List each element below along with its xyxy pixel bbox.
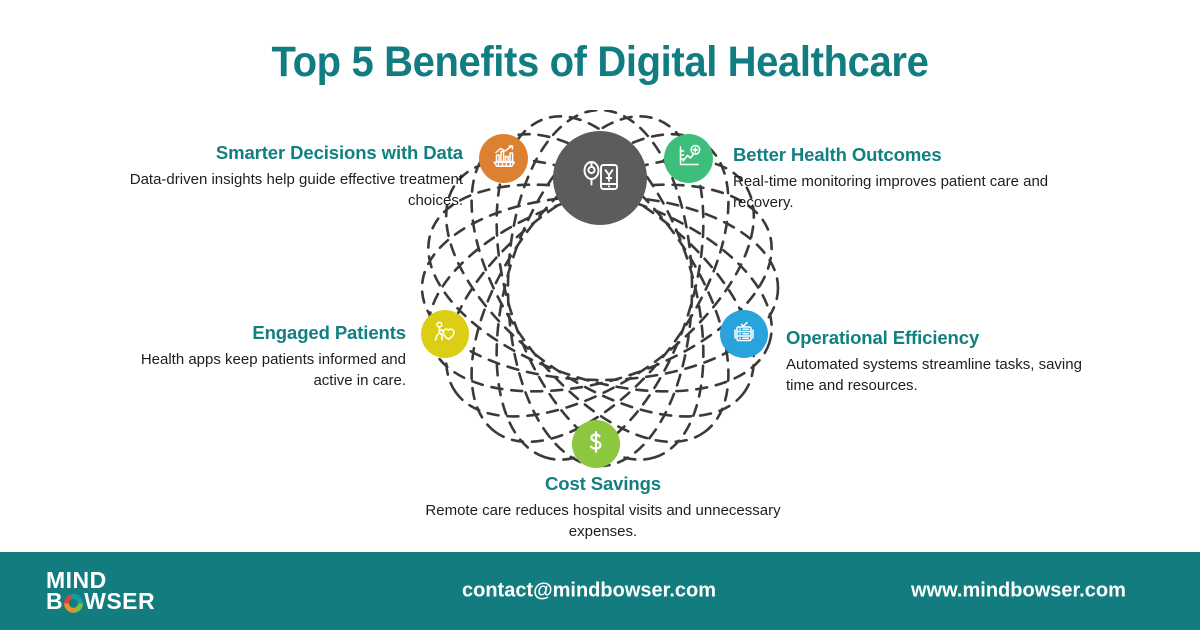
logo-text-b: B xyxy=(46,591,63,612)
benefit-block-smarter-decisions: Smarter Decisions with Data Data-driven … xyxy=(120,142,463,211)
mindbowser-swirl-icon xyxy=(64,594,83,613)
benefit-description: Real-time monitoring improves patient ca… xyxy=(733,172,1063,213)
benefit-description: Data-driven insights help guide effectiv… xyxy=(120,170,463,211)
benefit-block-engaged-patients: Engaged Patients Health apps keep patien… xyxy=(100,322,406,391)
benefit-description: Remote care reduces hospital visits and … xyxy=(420,501,786,542)
benefit-heading: Better Health Outcomes xyxy=(733,144,1063,166)
benefit-description: Health apps keep patients informed and a… xyxy=(100,350,406,391)
benefit-heading: Operational Efficiency xyxy=(786,327,1086,349)
node-engaged-patients[interactable] xyxy=(421,310,469,358)
benefit-heading: Cost Savings xyxy=(420,473,786,495)
stethoscope-smartphone-icon xyxy=(576,152,624,205)
person-heart-icon xyxy=(431,318,459,351)
logo-text-wser: WSER xyxy=(84,591,155,612)
benefit-block-operational-efficiency: Operational Efficiency Automated systems… xyxy=(786,327,1086,396)
server-checklist-icon xyxy=(730,318,758,351)
node-cost-savings[interactable] xyxy=(572,420,620,468)
node-smarter-decisions[interactable] xyxy=(479,134,528,183)
benefit-block-cost-savings: Cost Savings Remote care reduces hospita… xyxy=(420,473,786,542)
bar-chart-growth-icon xyxy=(490,142,518,175)
center-hub xyxy=(553,131,647,225)
benefit-block-better-health-outcomes: Better Health Outcomes Real-time monitor… xyxy=(733,144,1063,213)
benefit-heading: Engaged Patients xyxy=(100,322,406,344)
medical-chart-icon xyxy=(675,142,703,175)
benefit-description: Automated systems streamline tasks, savi… xyxy=(786,355,1086,396)
footer-bar: MIND B WSER contact@mindbowser.com www.m… xyxy=(0,552,1200,630)
dollar-sign-icon xyxy=(582,428,610,461)
page-title: Top 5 Benefits of Digital Healthcare xyxy=(42,38,1158,87)
benefit-heading: Smarter Decisions with Data xyxy=(120,142,463,164)
logo-line-bowser: B WSER xyxy=(46,591,155,612)
contact-email[interactable]: contact@mindbowser.com xyxy=(462,580,716,603)
mindbowser-logo[interactable]: MIND B WSER xyxy=(46,570,155,612)
website-url[interactable]: www.mindbowser.com xyxy=(911,580,1126,603)
node-operational-efficiency[interactable] xyxy=(720,310,768,358)
node-better-health-outcomes[interactable] xyxy=(664,134,713,183)
